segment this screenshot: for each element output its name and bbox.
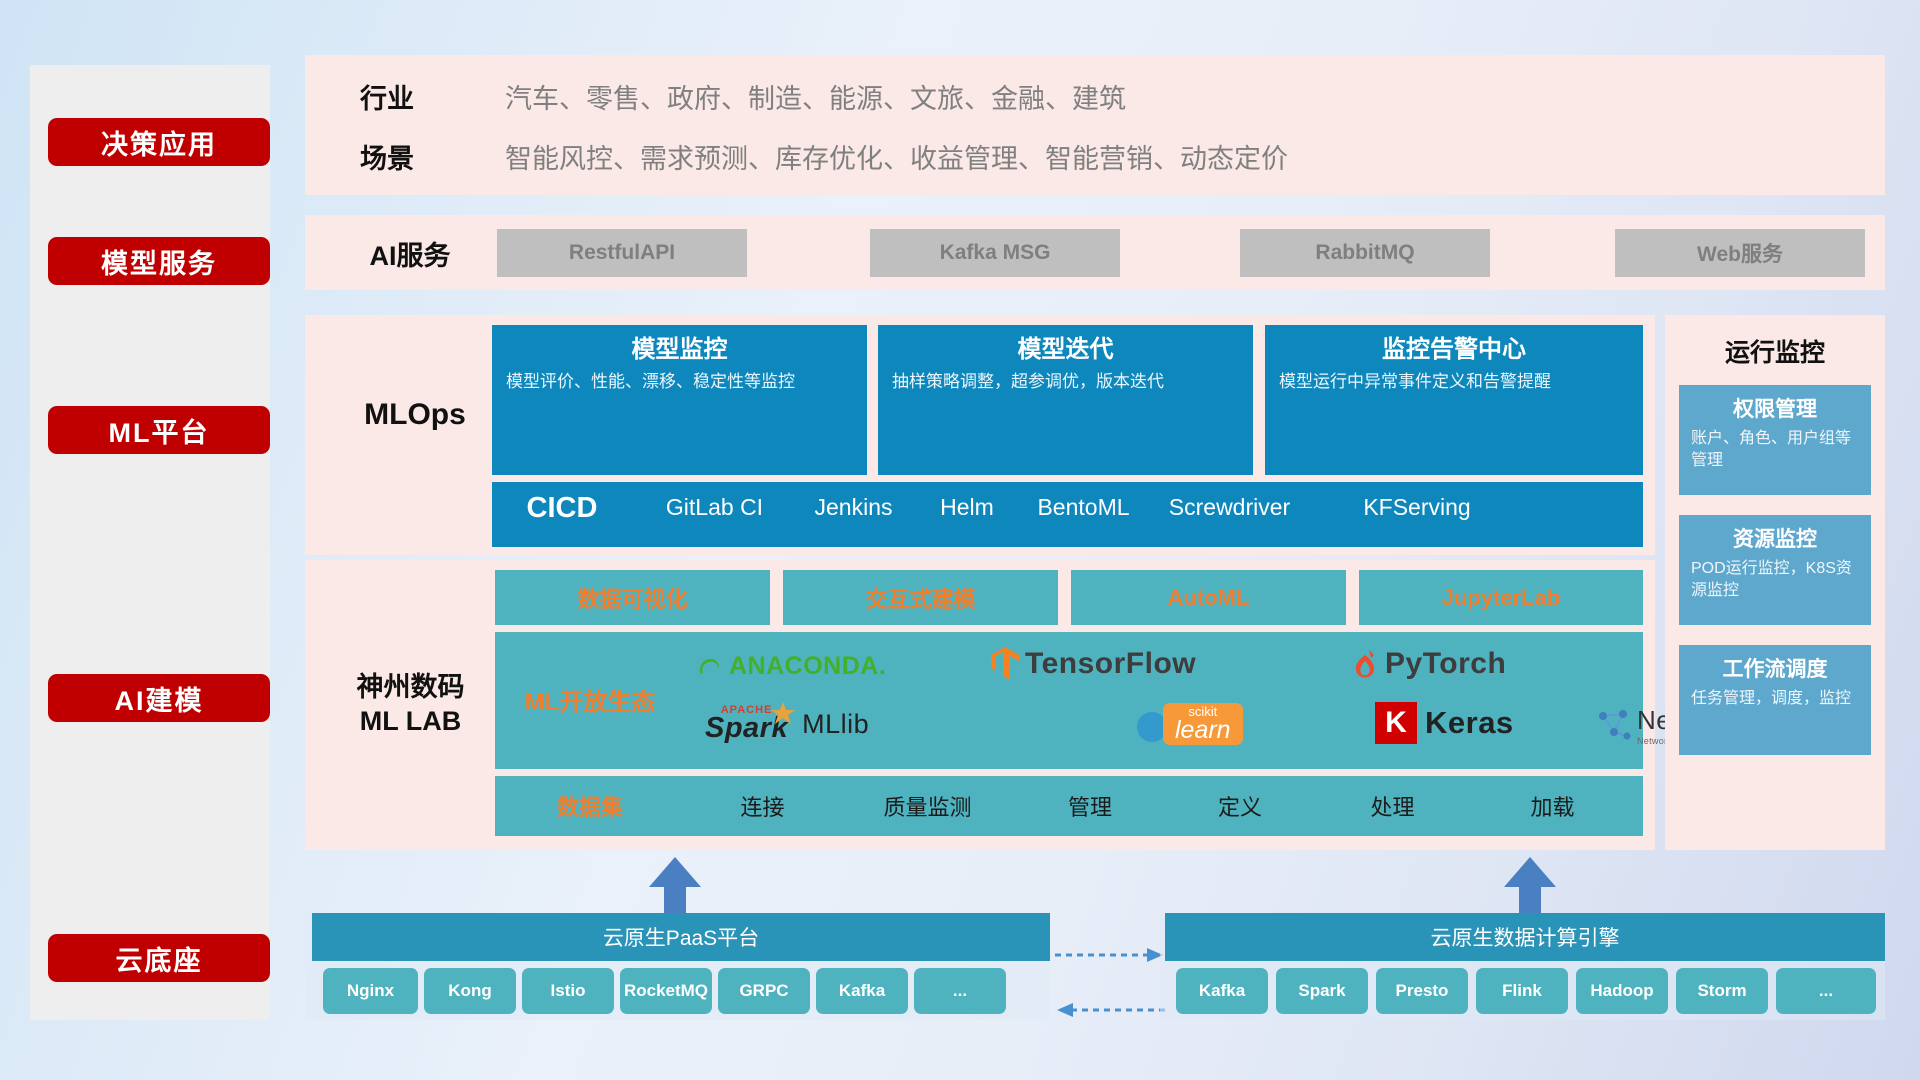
service-chip-kafka-msg[interactable]: Kafka MSG (870, 229, 1120, 277)
mlops-panel: MLOps 模型监控 模型评价、性能、漂移、稳定性等监控 模型迭代 抽样策略调整… (305, 315, 1655, 555)
card-title: 监控告警中心 (1279, 335, 1629, 365)
tech-chip-more-left[interactable]: ... (914, 968, 1006, 1014)
arrow-up-data-engine (1500, 857, 1560, 919)
tab-jupyterlab[interactable]: JupyterLab (1359, 570, 1643, 625)
rail-label: 云底座 (116, 939, 203, 978)
card-title: 模型监控 (506, 335, 853, 365)
tech-chip-presto[interactable]: Presto (1376, 968, 1468, 1014)
dataset-cell-connect[interactable]: 连接 (685, 776, 840, 836)
runtime-monitor-title: 运行监控 (1665, 333, 1885, 369)
card-desc: POD运行监控，K8S资源监控 (1691, 558, 1859, 601)
mlops-card-model-iteration[interactable]: 模型迭代 抽样策略调整，超参调优，版本迭代 (878, 325, 1253, 475)
card-desc: 任务管理，调度，监控 (1691, 688, 1859, 710)
tech-chip-kong[interactable]: Kong (424, 968, 516, 1014)
chip-label: Presto (1396, 981, 1449, 1001)
rail-item-model-service[interactable]: 模型服务 (48, 237, 270, 285)
rail-label: 决策应用 (101, 123, 217, 162)
ai-service-label: AI服务 (370, 234, 451, 273)
spark-mllib-logo: APACHE Spark MLlib (705, 700, 869, 748)
tab-data-visualization[interactable]: 数据可视化 (495, 570, 770, 625)
service-chip-web-service[interactable]: Web服务 (1615, 229, 1865, 277)
anaconda-logo: ANACONDA. (695, 646, 886, 686)
ai-modeling-panel: 神州数码 ML LAB 数据可视化 交互式建模 AutoML JupyterLa… (305, 560, 1655, 850)
tab-label: 交互式建模 (865, 582, 975, 614)
monitor-card-resource[interactable]: 资源监控 POD运行监控，K8S资源监控 (1679, 515, 1871, 625)
card-desc: 抽样策略调整，超参调优，版本迭代 (892, 371, 1239, 394)
decision-row-value-scenario: 智能风控、需求预测、库存优化、收益管理、智能营销、动态定价 (505, 137, 1288, 176)
cicd-tool-kfserving[interactable]: KFServing (1337, 494, 1497, 520)
chip-label: ... (1819, 981, 1833, 1001)
chip-label: Flink (1502, 981, 1542, 1001)
service-chip-rabbitmq[interactable]: RabbitMQ (1240, 229, 1490, 277)
chip-label: Kafka MSG (940, 241, 1051, 265)
cicd-tool-bentoml[interactable]: BentoML (1025, 494, 1142, 520)
cicd-lead-label: CICD (492, 492, 632, 525)
rail-label: ML平台 (109, 411, 210, 450)
tech-chip-kafka-right[interactable]: Kafka (1176, 968, 1268, 1014)
dataset-cell-management[interactable]: 管理 (1015, 776, 1165, 836)
foot-bar-label: 云原生数据计算引擎 (1431, 922, 1620, 952)
mlops-label: MLOps (364, 398, 466, 432)
dataset-cell-processing[interactable]: 处理 (1315, 776, 1470, 836)
chip-label: Kong (448, 981, 491, 1001)
tech-chip-grpc[interactable]: GRPC (718, 968, 810, 1014)
chip-label: Nginx (347, 981, 394, 1001)
card-desc: 模型运行中异常事件定义和告警提醒 (1279, 371, 1629, 394)
chip-label: Web服务 (1697, 238, 1783, 268)
dataset-cell-definition[interactable]: 定义 (1165, 776, 1315, 836)
dataset-cell-loading[interactable]: 加载 (1470, 776, 1635, 836)
cicd-tool-jenkins[interactable]: Jenkins (797, 494, 910, 520)
tab-interactive-modeling[interactable]: 交互式建模 (783, 570, 1058, 625)
tech-chip-kafka-left[interactable]: Kafka (816, 968, 908, 1014)
card-title: 权限管理 (1691, 393, 1859, 423)
runtime-monitor-panel: 运行监控 权限管理 账户、角色、用户组等管理 资源监控 POD运行监控，K8S资… (1665, 315, 1885, 850)
chip-label: Spark (1298, 981, 1345, 1001)
tech-chip-rocketmq[interactable]: RocketMQ (620, 968, 712, 1014)
decision-row-label-scenario: 场景 (360, 137, 414, 176)
card-title: 模型迭代 (892, 335, 1239, 365)
chip-label: Kafka (839, 981, 885, 1001)
decision-row-label-industry: 行业 (360, 77, 414, 116)
tech-chip-storm[interactable]: Storm (1676, 968, 1768, 1014)
ml-open-ecosystem-block: ML开放生态 ANACONDA. TensorFlow PyTorch sas (495, 632, 1643, 769)
rail-item-cloud-base[interactable]: 云底座 (48, 934, 270, 982)
arrow-up-paas (645, 857, 705, 919)
tab-label: AutoML (1168, 585, 1250, 611)
dataset-row: 数据集 连接 质量监测 管理 定义 处理 加载 (495, 776, 1643, 836)
model-service-panel: AI服务 RestfulAPI Kafka MSG RabbitMQ Web服务 (305, 215, 1885, 290)
cicd-tool-gitlab-ci[interactable]: GitLab CI (632, 494, 797, 520)
tab-label: JupyterLab (1442, 585, 1561, 611)
architecture-diagram: 决策应用 模型服务 ML平台 AI建模 云底座 行业 汽车、零售、政府、制造、能… (0, 0, 1920, 1080)
chip-label: Kafka (1199, 981, 1245, 1001)
ml-open-ecosystem-label: ML开放生态 (495, 670, 685, 728)
pytorch-logo: PyTorch (1350, 643, 1506, 685)
mlops-card-model-monitoring[interactable]: 模型监控 模型评价、性能、漂移、稳定性等监控 (492, 325, 867, 475)
tab-label: 数据可视化 (577, 582, 687, 614)
cicd-tool-screwdriver[interactable]: Screwdriver (1147, 494, 1312, 520)
card-desc: 模型评价、性能、漂移、稳定性等监控 (506, 371, 853, 394)
rail-item-ai-modeling[interactable]: AI建模 (48, 674, 270, 722)
keras-logo: K Keras (1375, 700, 1514, 746)
monitor-card-workflow[interactable]: 工作流调度 任务管理，调度，监控 (1679, 645, 1871, 755)
tech-chip-flink[interactable]: Flink (1476, 968, 1568, 1014)
ml-lab-label-line1: 神州数码 (357, 671, 465, 705)
chip-label: Hadoop (1590, 981, 1653, 1001)
tech-chip-nginx[interactable]: Nginx (323, 968, 418, 1014)
monitor-card-permission[interactable]: 权限管理 账户、角色、用户组等管理 (1679, 385, 1871, 495)
cicd-tool-helm[interactable]: Helm (912, 494, 1022, 520)
card-title: 资源监控 (1691, 523, 1859, 553)
tensorflow-logo: TensorFlow (990, 642, 1196, 686)
ml-lab-label-line2: ML LAB (360, 705, 462, 739)
foot-bar-label: 云原生PaaS平台 (603, 922, 759, 952)
dataset-row-head: 数据集 (495, 776, 685, 836)
chip-label: RestfulAPI (569, 241, 675, 265)
decision-application-panel: 行业 汽车、零售、政府、制造、能源、文旅、金融、建筑 场景 智能风控、需求预测、… (305, 55, 1885, 195)
tech-chip-hadoop[interactable]: Hadoop (1576, 968, 1668, 1014)
scikit-learn-logo: scikit learn (1135, 700, 1243, 748)
dataset-cell-quality-monitoring[interactable]: 质量监测 (840, 776, 1015, 836)
rail-label: 模型服务 (101, 242, 217, 281)
chip-label: GRPC (739, 981, 788, 1001)
tech-chip-spark[interactable]: Spark (1276, 968, 1368, 1014)
chip-label: ... (953, 981, 967, 1001)
card-desc: 账户、角色、用户组等管理 (1691, 428, 1859, 471)
chip-label: Storm (1697, 981, 1746, 1001)
data-engine-title: 云原生数据计算引擎 (1165, 913, 1885, 961)
cicd-bar: CICD GitLab CI Jenkins Helm BentoML Scre… (492, 482, 1643, 547)
service-chip-restfulapi[interactable]: RestfulAPI (497, 229, 747, 277)
rail-label: AI建模 (115, 679, 204, 718)
paas-platform-title: 云原生PaaS平台 (312, 913, 1050, 961)
rail-item-ml-platform[interactable]: ML平台 (48, 406, 270, 454)
rail-item-decision-app[interactable]: 决策应用 (48, 118, 270, 166)
tech-chip-istio[interactable]: Istio (522, 968, 614, 1014)
tech-chip-more-right[interactable]: ... (1776, 968, 1876, 1014)
chip-label: RocketMQ (624, 981, 708, 1001)
tab-automl[interactable]: AutoML (1071, 570, 1346, 625)
card-title: 工作流调度 (1691, 653, 1859, 683)
left-rail (30, 65, 270, 1020)
mlops-card-alert-center[interactable]: 监控告警中心 模型运行中异常事件定义和告警提醒 (1265, 325, 1643, 475)
arrow-right-dashed (1055, 945, 1165, 965)
chip-label: Istio (551, 981, 586, 1001)
decision-row-value-industry: 汽车、零售、政府、制造、能源、文旅、金融、建筑 (505, 77, 1126, 116)
chip-label: RabbitMQ (1315, 241, 1414, 265)
